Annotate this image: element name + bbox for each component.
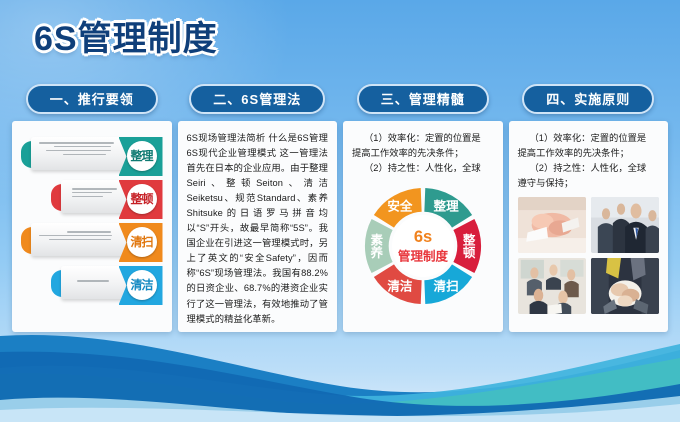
principle-line: 遵守与保持； xyxy=(518,176,660,191)
ribbon-list: 整理 整顿 xyxy=(21,131,163,302)
donut-segment-label: 清扫 xyxy=(433,279,458,294)
poster-title-wrap: 6S管理制度 xyxy=(34,22,218,56)
donut-segment-label: 素养 xyxy=(369,233,383,261)
section-card-3: （1）效率化：定置的位置是 提高工作效率的先决条件； （2）持之性：人性化，全球… xyxy=(343,121,503,332)
column-3: 三、管理精髓 （1）效率化：定置的位置是 提高工作效率的先决条件； （2）持之性… xyxy=(343,84,503,332)
principles-list-4: （1）效率化：定置的位置是 提高工作效率的先决条件； （2）持之性：人性化，全球… xyxy=(518,131,660,191)
column-1: 一、推行要领 整理 xyxy=(12,84,172,332)
ribbon-item: 清扫 xyxy=(21,223,163,259)
ribbon-label-badge: 整理 xyxy=(127,141,157,171)
management-method-body: 6S现场管理法简析 什么是6S管理 6S现代企业管理模式 这一管理法首先在日本的… xyxy=(187,131,329,327)
principle-line: （2）持之性：人性化，全球 xyxy=(518,161,660,176)
ribbon-item: 清洁 xyxy=(51,266,163,302)
donut-center-bottom-label: 管理制度 xyxy=(398,249,449,264)
principle-line: （2）持之性：人性化，全球 xyxy=(352,161,494,176)
section-card-4: （1）效率化：定置的位置是 提高工作效率的先决条件； （2）持之性：人性化，全球… xyxy=(509,121,669,332)
donut-segment-label: 整理 xyxy=(432,199,459,214)
hands-together-photo xyxy=(518,197,586,253)
column-4: 四、实施原则 （1）效率化：定置的位置是 提高工作效率的先决条件； （2）持之性… xyxy=(509,84,669,332)
section-card-1: 整理 整顿 xyxy=(12,121,172,332)
donut-segment-label: 清洁 xyxy=(387,279,413,294)
section-heading-4: 四、实施原则 xyxy=(522,84,654,114)
ribbon-label-badge: 清扫 xyxy=(127,227,157,257)
section-card-2: 6S现场管理法简析 什么是6S管理 6S现代企业管理模式 这一管理法首先在日本的… xyxy=(178,121,338,332)
principle-line: （1）效率化：定置的位置是 xyxy=(352,131,494,146)
ribbon-item: 整理 xyxy=(21,137,163,173)
page-title: 6S管理制度 xyxy=(34,22,218,56)
section-heading-1: 一、推行要领 xyxy=(26,84,158,114)
photo-grid xyxy=(518,197,660,314)
columns-container: 一、推行要领 整理 xyxy=(0,84,680,332)
ribbon-label-badge: 清洁 xyxy=(127,270,157,300)
principle-line: 提高工作效率的先决条件； xyxy=(352,146,494,161)
donut-segment-label: 整顿 xyxy=(462,233,476,261)
bottom-wave-decoration xyxy=(0,322,680,422)
column-2: 二、6S管理法 6S现场管理法简析 什么是6S管理 6S现代企业管理模式 这一管… xyxy=(178,84,338,332)
principle-line: （1）效率化：定置的位置是 xyxy=(518,131,660,146)
team-hands-stack-photo xyxy=(591,258,659,314)
six-s-donut-chart: 整理整顿清扫清洁素养安全 6s 管理制度 xyxy=(357,180,489,312)
principles-list-3: （1）效率化：定置的位置是 提高工作效率的先决条件； （2）持之性：人性化，全球 xyxy=(352,131,494,176)
section-heading-2: 二、6S管理法 xyxy=(189,84,325,114)
donut-chart-wrap: 整理整顿清扫清洁素养安全 6s 管理制度 xyxy=(352,180,494,312)
section-heading-3: 三、管理精髓 xyxy=(357,84,489,114)
ribbon-label-badge: 整顿 xyxy=(127,184,157,214)
donut-center-top-label: 6s xyxy=(414,228,432,246)
donut-segment-label: 安全 xyxy=(387,199,413,214)
ribbon-item: 整顿 xyxy=(51,180,163,216)
business-team-standing-photo xyxy=(591,197,659,253)
principle-line: 提高工作效率的先决条件； xyxy=(518,146,660,161)
office-meeting-photo xyxy=(518,258,586,314)
